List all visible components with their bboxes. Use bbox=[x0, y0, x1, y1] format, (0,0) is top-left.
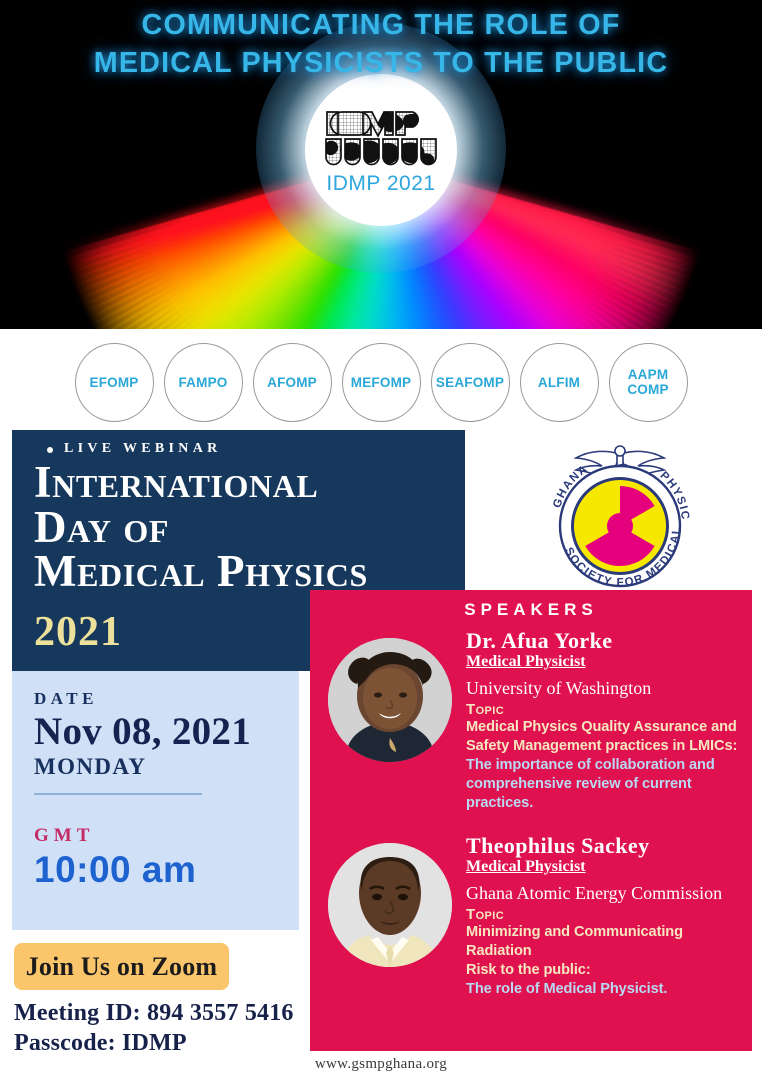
org-circle-aapm-comp[interactable]: AAPM COMP bbox=[609, 343, 688, 422]
topic-line: Minimizing and Communicating Radiation bbox=[466, 923, 746, 961]
speakers-panel: SPEAKERS bbox=[310, 590, 752, 1051]
speaker-details-1: Dr. Afua Yorke Medical Physicist Univers… bbox=[452, 626, 746, 813]
bullet-icon bbox=[47, 447, 53, 453]
org-circle-mefomp[interactable]: MEFOMP bbox=[342, 343, 421, 422]
member-organizations-row: EFOMP FAMPO AFOMP MEFOMP SEAFOMP ALFIM A… bbox=[0, 329, 762, 429]
date-value: Nov 08, 2021 bbox=[34, 712, 299, 753]
topic-line: comprehensive review of current practice… bbox=[466, 775, 746, 813]
speaker-details-2: Theophilus Sackey Medical Physicist Ghan… bbox=[452, 831, 746, 999]
time-value: 10:00 am bbox=[34, 849, 299, 891]
gsmp-society-logo: GHANA PHYSIC SOCIETY FOR MEDICAL bbox=[540, 438, 700, 590]
live-webinar-kicker: LIVE WEBINAR bbox=[64, 441, 465, 457]
hero-banner: IDMP 2021 COMMUNICATING THE ROLE OF MEDI… bbox=[0, 0, 762, 329]
page-title: International Day of Medical Physics bbox=[34, 461, 465, 594]
day-of-week: MONDAY bbox=[34, 754, 299, 780]
poster-root: IDMP 2021 COMMUNICATING THE ROLE OF MEDI… bbox=[0, 0, 762, 1080]
iomp-globe-icon bbox=[322, 108, 440, 170]
org-circle-fampo[interactable]: FAMPO bbox=[164, 343, 243, 422]
topic-label: Topic bbox=[466, 906, 746, 923]
topic-line: The role of Medical Physicist. bbox=[466, 980, 746, 999]
topic-line: Medical Physics Quality Assurance and bbox=[466, 718, 746, 737]
divider bbox=[34, 793, 202, 795]
speaker-photo-theophilus-sackey bbox=[328, 843, 452, 967]
speaker-role: Medical Physicist bbox=[466, 653, 746, 671]
avatar bbox=[328, 638, 452, 762]
timezone-label: GMT bbox=[34, 825, 299, 847]
speaker-organization: University of Washington bbox=[466, 678, 746, 699]
topic-line: The importance of collaboration and bbox=[466, 756, 746, 775]
speakers-heading: SPEAKERS bbox=[310, 600, 752, 620]
live-webinar-label: LIVE WEBINAR bbox=[64, 441, 222, 456]
speaker-card-1: Dr. Afua Yorke Medical Physicist Univers… bbox=[310, 626, 752, 813]
speaker-name: Theophilus Sackey bbox=[466, 833, 746, 859]
speaker-name: Dr. Afua Yorke bbox=[466, 628, 746, 654]
date-panel: DATE Nov 08, 2021 MONDAY GMT 10:00 am bbox=[12, 671, 299, 930]
speaker-card-2: Theophilus Sackey Medical Physicist Ghan… bbox=[310, 831, 752, 999]
org-circle-efomp[interactable]: EFOMP bbox=[75, 343, 154, 422]
meeting-id-text: Meeting ID: 894 3557 5416 bbox=[14, 1000, 294, 1027]
title-line-2: Day of bbox=[34, 506, 465, 550]
idmp-year-label: IDMP 2021 bbox=[326, 172, 435, 196]
date-label: DATE bbox=[34, 689, 299, 709]
org-circle-seafomp[interactable]: SEAFOMP bbox=[431, 343, 510, 422]
speaker-organization: Ghana Atomic Energy Commission bbox=[466, 883, 746, 904]
avatar bbox=[328, 843, 452, 967]
title-line-3: Medical Physics bbox=[34, 550, 465, 594]
iomp-logo-disc: IDMP 2021 bbox=[305, 74, 457, 226]
topic-line: Safety Management practices in LMICs: bbox=[466, 737, 746, 756]
footer-website-url[interactable]: www.gsmpghana.org bbox=[0, 1056, 762, 1073]
org-circle-afomp[interactable]: AFOMP bbox=[253, 343, 332, 422]
hero-headline: COMMUNICATING THE ROLE OF MEDICAL PHYSIC… bbox=[4, 6, 758, 82]
join-zoom-button[interactable]: Join Us on Zoom bbox=[14, 943, 229, 990]
topic-label: Topic bbox=[466, 701, 746, 718]
title-line-1: International bbox=[34, 461, 465, 505]
org-circle-alfim[interactable]: ALFIM bbox=[520, 343, 599, 422]
speaker-photo-afua-yorke bbox=[328, 638, 452, 762]
topic-line: Risk to the public: bbox=[466, 961, 746, 980]
passcode-text: Passcode: IDMP bbox=[14, 1030, 187, 1057]
speaker-role: Medical Physicist bbox=[466, 858, 746, 876]
